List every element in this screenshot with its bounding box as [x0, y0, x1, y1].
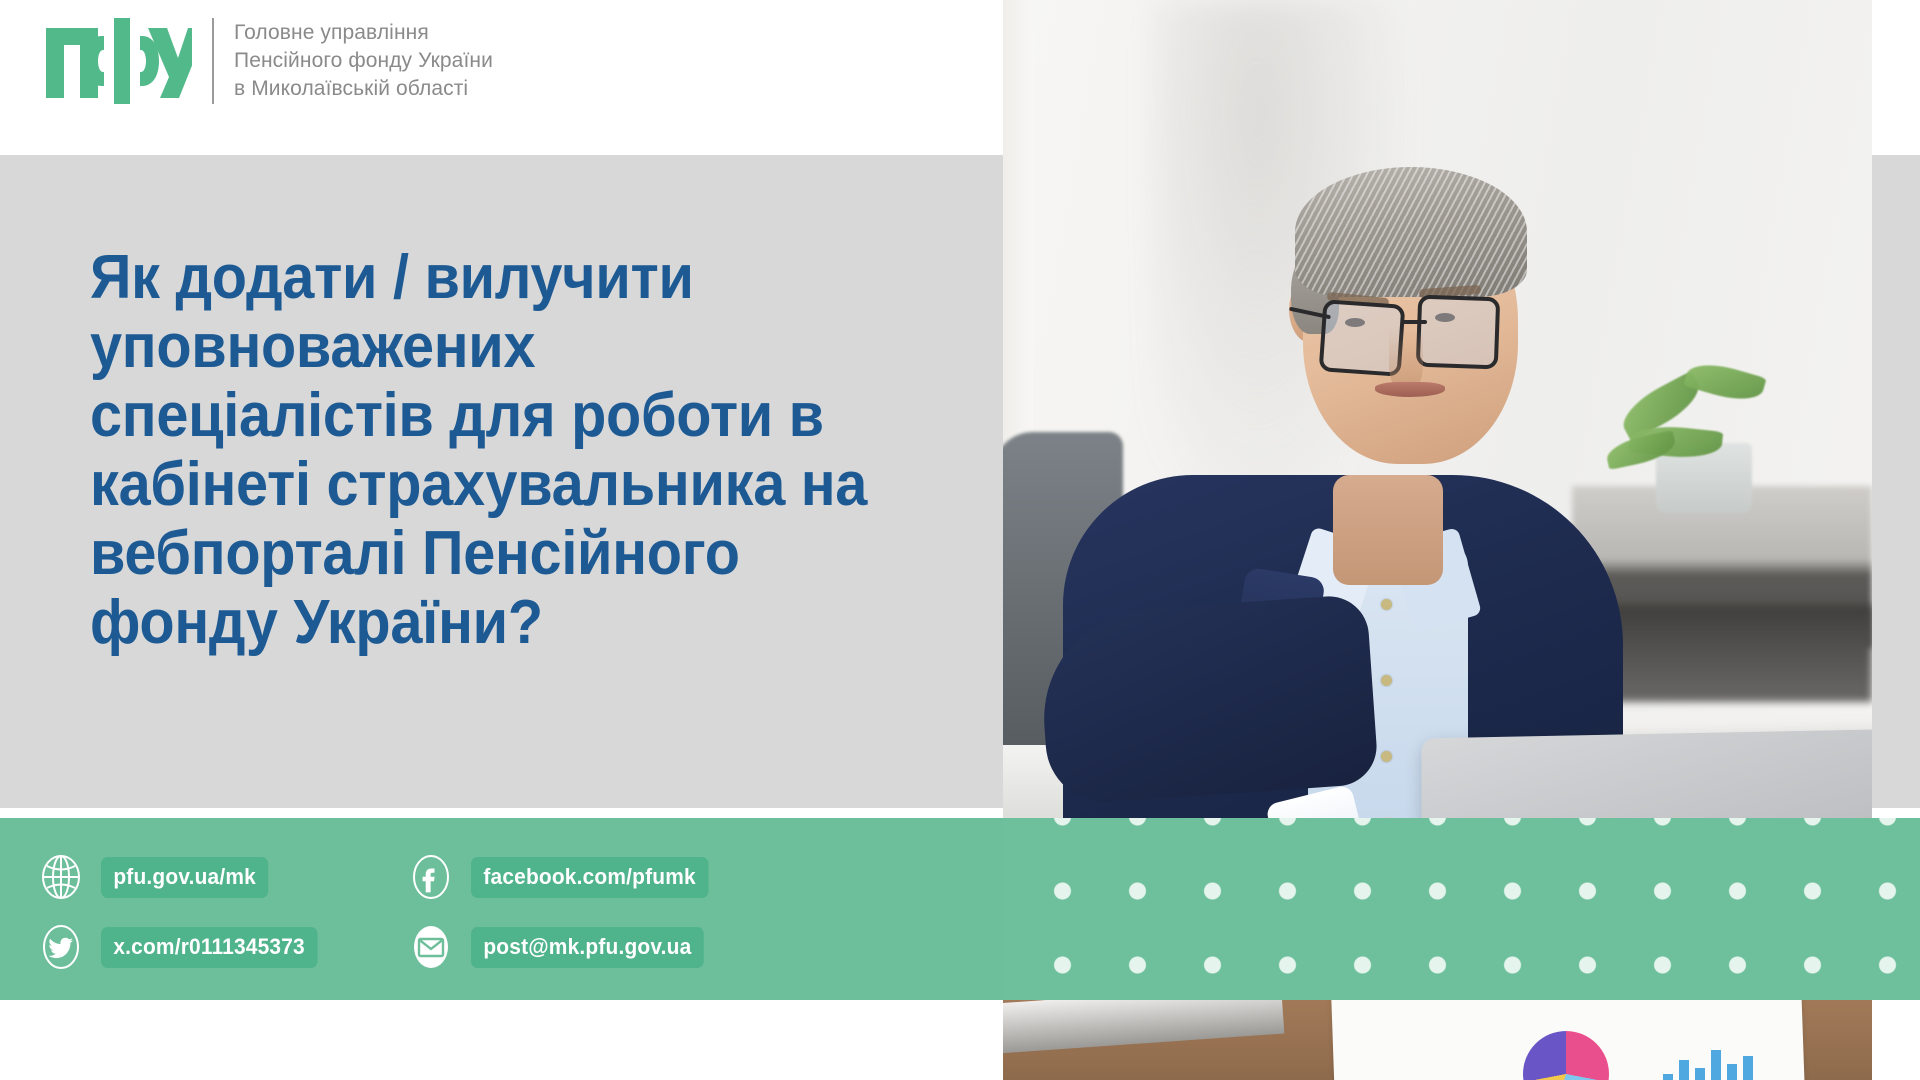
photo-neck — [1333, 475, 1443, 585]
contact-website-label[interactable]: pfu.gov.ua/mk — [101, 857, 268, 898]
contact-facebook-label[interactable]: facebook.com/pfumk — [471, 857, 708, 898]
pfu-logo-icon — [44, 18, 192, 104]
contact-facebook[interactable]: facebook.com/pfumk — [406, 853, 776, 902]
contact-email-label[interactable]: post@mk.pfu.gov.ua — [471, 927, 704, 968]
email-icon — [406, 923, 455, 972]
photo-hair — [1295, 167, 1527, 297]
photo-shirt-button — [1381, 675, 1392, 686]
footer-bottom-white — [0, 1000, 1003, 1080]
headline-panel-right-strip — [1872, 155, 1920, 808]
poster-canvas: Головне управління Пенсійного фонду Укра… — [0, 0, 1920, 1080]
glasses-bridge — [1401, 320, 1427, 324]
footer-bottom-white-right — [1872, 1000, 1920, 1080]
photo-shirt-button — [1381, 751, 1392, 762]
org-name: Головне управління Пенсійного фонду Укра… — [234, 19, 493, 103]
facebook-icon — [406, 853, 455, 902]
header: Головне управління Пенсійного фонду Укра… — [0, 0, 1003, 155]
contact-twitter-label[interactable]: x.com/r0111345373 — [101, 927, 317, 968]
org-line-1: Головне управління — [234, 19, 493, 47]
org-line-2: Пенсійного фонду України — [234, 47, 493, 75]
footer-bar: pfu.gov.ua/mk facebook.com/pfumk — [0, 818, 1920, 1000]
panel-gap — [0, 808, 1003, 818]
contact-website[interactable]: pfu.gov.ua/mk — [36, 853, 406, 902]
photo-bar-chart — [1663, 1042, 1753, 1080]
panel-gap-right — [1872, 808, 1920, 818]
globe-icon — [36, 853, 85, 902]
logo[interactable]: Головне управління Пенсійного фонду Укра… — [44, 18, 493, 104]
footer-dot-pattern — [1003, 818, 1920, 1000]
page-title: Як додати / вилучити уповноважених спеці… — [90, 243, 890, 657]
contact-twitter[interactable]: x.com/r0111345373 — [36, 923, 406, 972]
logo-divider — [212, 18, 214, 104]
org-line-3: в Миколаївській області — [234, 75, 493, 103]
twitter-icon — [36, 923, 85, 972]
contact-email[interactable]: post@mk.pfu.gov.ua — [406, 923, 776, 972]
contact-list: pfu.gov.ua/mk facebook.com/pfumk — [36, 842, 976, 982]
glasses-lens-right — [1416, 294, 1500, 369]
